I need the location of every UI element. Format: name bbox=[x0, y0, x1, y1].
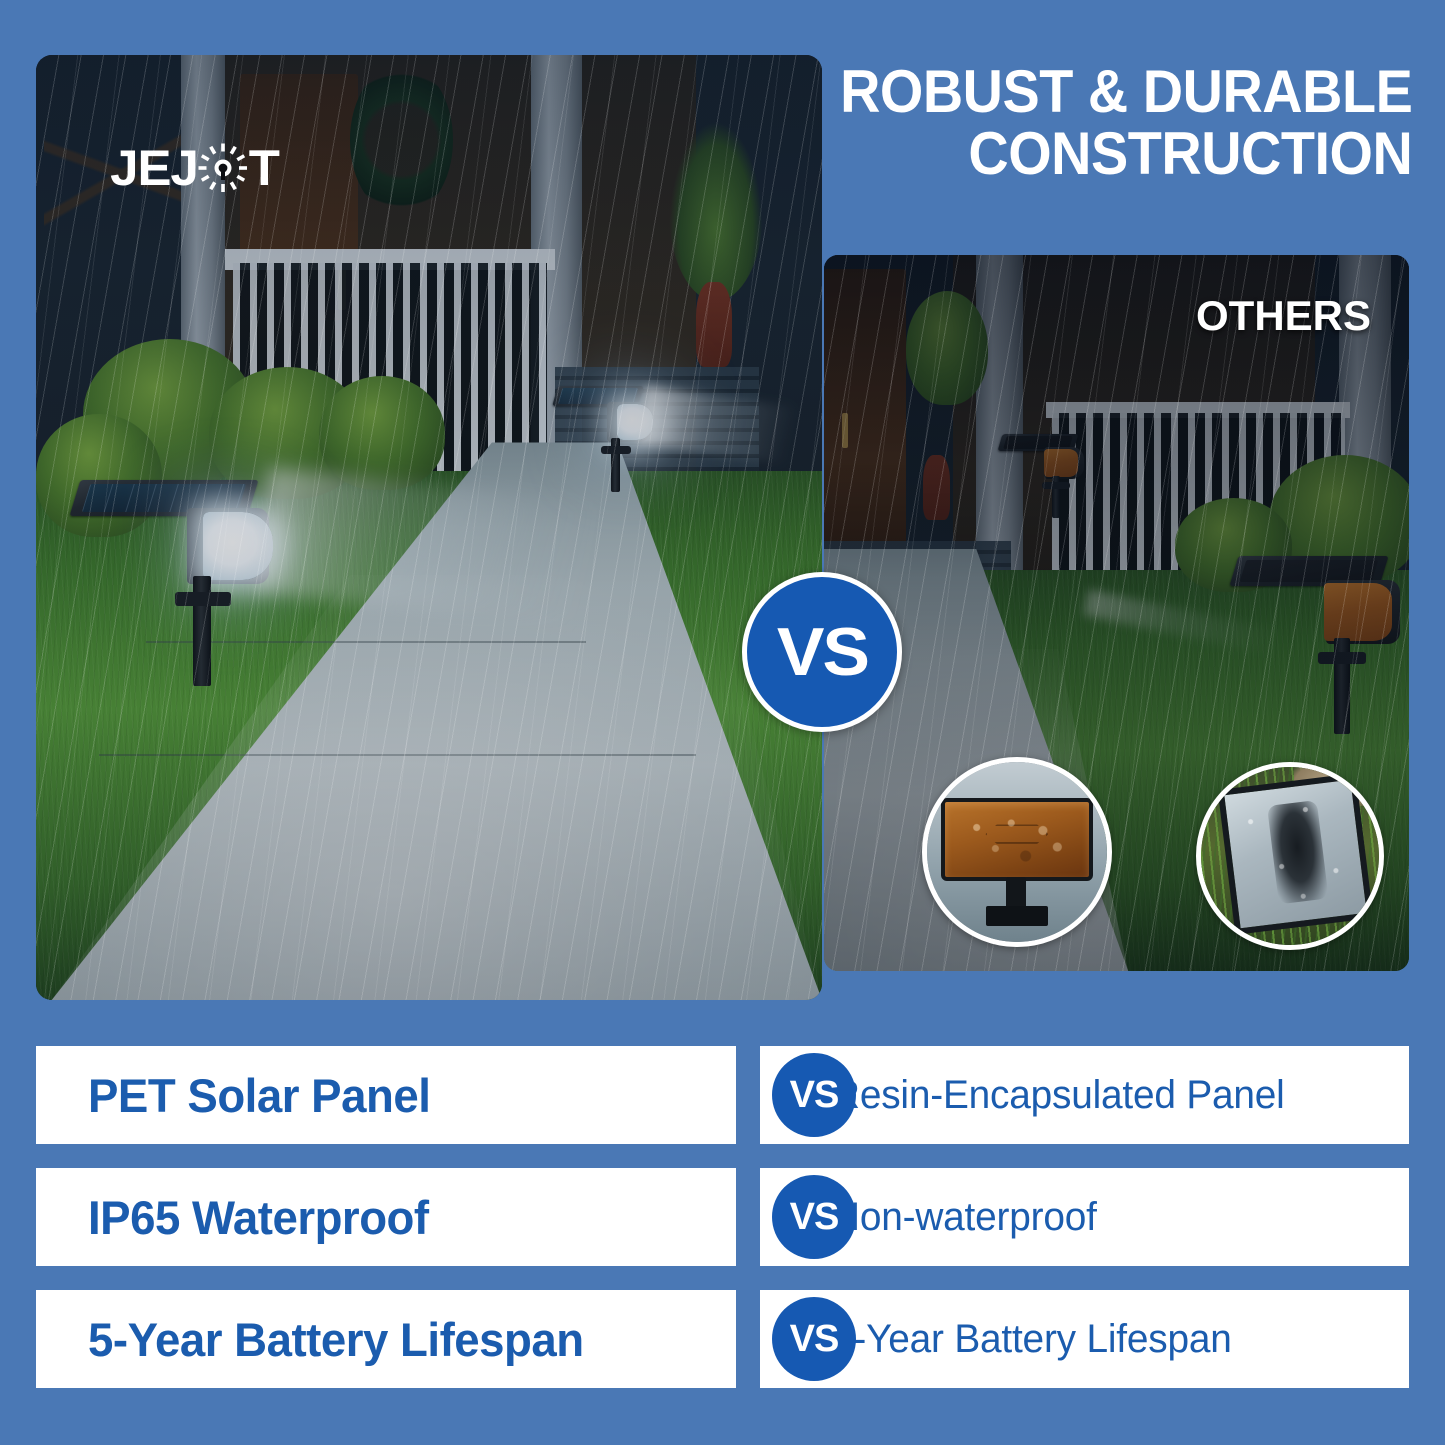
night-color-grade bbox=[36, 55, 822, 1000]
logo-text-left: JEJ bbox=[110, 143, 198, 193]
product-photo-ours: JEJ bbox=[36, 55, 822, 1000]
comparison-ours-label: 5-Year Battery Lifespan bbox=[88, 1312, 584, 1367]
comparison-theirs-label: Non-waterproof bbox=[832, 1195, 1097, 1240]
panel-frost-speckle bbox=[1224, 780, 1366, 928]
vs-badge-row-label: VS bbox=[790, 1074, 839, 1117]
comparison-theirs-label: 1-Year Battery Lifespan bbox=[832, 1317, 1232, 1362]
comparison-row: PET Solar Panel Resin-Encapsulated Panel… bbox=[36, 1046, 1409, 1144]
night-garden-scene-ours bbox=[36, 55, 822, 1000]
comparison-ours-label: PET Solar Panel bbox=[88, 1068, 430, 1123]
headline-line-2: CONSTRUCTION bbox=[968, 123, 1412, 185]
vs-badge-row: VS bbox=[772, 1297, 856, 1381]
comparison-theirs-cell: Non-waterproof bbox=[760, 1168, 1409, 1266]
comparison-ours-label: IP65 Waterproof bbox=[88, 1190, 429, 1245]
comparison-table: PET Solar Panel Resin-Encapsulated Panel… bbox=[36, 1046, 1409, 1412]
degraded-panel-frame bbox=[1218, 773, 1374, 935]
vs-badge-main-label: VS bbox=[776, 613, 867, 691]
brand-logo: JEJ bbox=[111, 143, 279, 193]
water-droplets bbox=[945, 802, 1088, 877]
vs-badge-row-label: VS bbox=[790, 1196, 839, 1239]
vs-badge-main: VS bbox=[742, 572, 902, 732]
rusted-amber-light-inset bbox=[922, 757, 1112, 947]
comparison-ours-cell: IP65 Waterproof bbox=[36, 1168, 736, 1266]
headline-line-1: ROBUST & DURABLE bbox=[840, 61, 1412, 123]
corroded-lamp-body bbox=[941, 798, 1092, 881]
sun-burst-icon bbox=[198, 143, 248, 193]
row-gap bbox=[736, 1046, 760, 1144]
comparison-theirs-cell: Resin-Encapsulated Panel bbox=[760, 1046, 1409, 1144]
row-gap bbox=[736, 1168, 760, 1266]
logo-text-right: T bbox=[249, 143, 279, 193]
lamp-mounting-plate bbox=[986, 906, 1047, 926]
vs-badge-row-label: VS bbox=[790, 1318, 839, 1361]
vs-badge-row: VS bbox=[772, 1175, 856, 1259]
comparison-row: 5-Year Battery Lifespan 1-Year Battery L… bbox=[36, 1290, 1409, 1388]
comparison-ours-cell: 5-Year Battery Lifespan bbox=[36, 1290, 736, 1388]
comparison-theirs-cell: 1-Year Battery Lifespan bbox=[760, 1290, 1409, 1388]
row-gap bbox=[736, 1290, 760, 1388]
vs-badge-row: VS bbox=[772, 1053, 856, 1137]
headline-block: ROBUST & DURABLE CONSTRUCTION bbox=[820, 48, 1412, 198]
comparison-row: IP65 Waterproof Non-waterproof VS bbox=[36, 1168, 1409, 1266]
damaged-solar-panel-inset bbox=[1196, 762, 1384, 950]
comparison-ours-cell: PET Solar Panel bbox=[36, 1046, 736, 1144]
others-label: OTHERS bbox=[1196, 292, 1371, 340]
comparison-theirs-label: Resin-Encapsulated Panel bbox=[832, 1073, 1285, 1118]
